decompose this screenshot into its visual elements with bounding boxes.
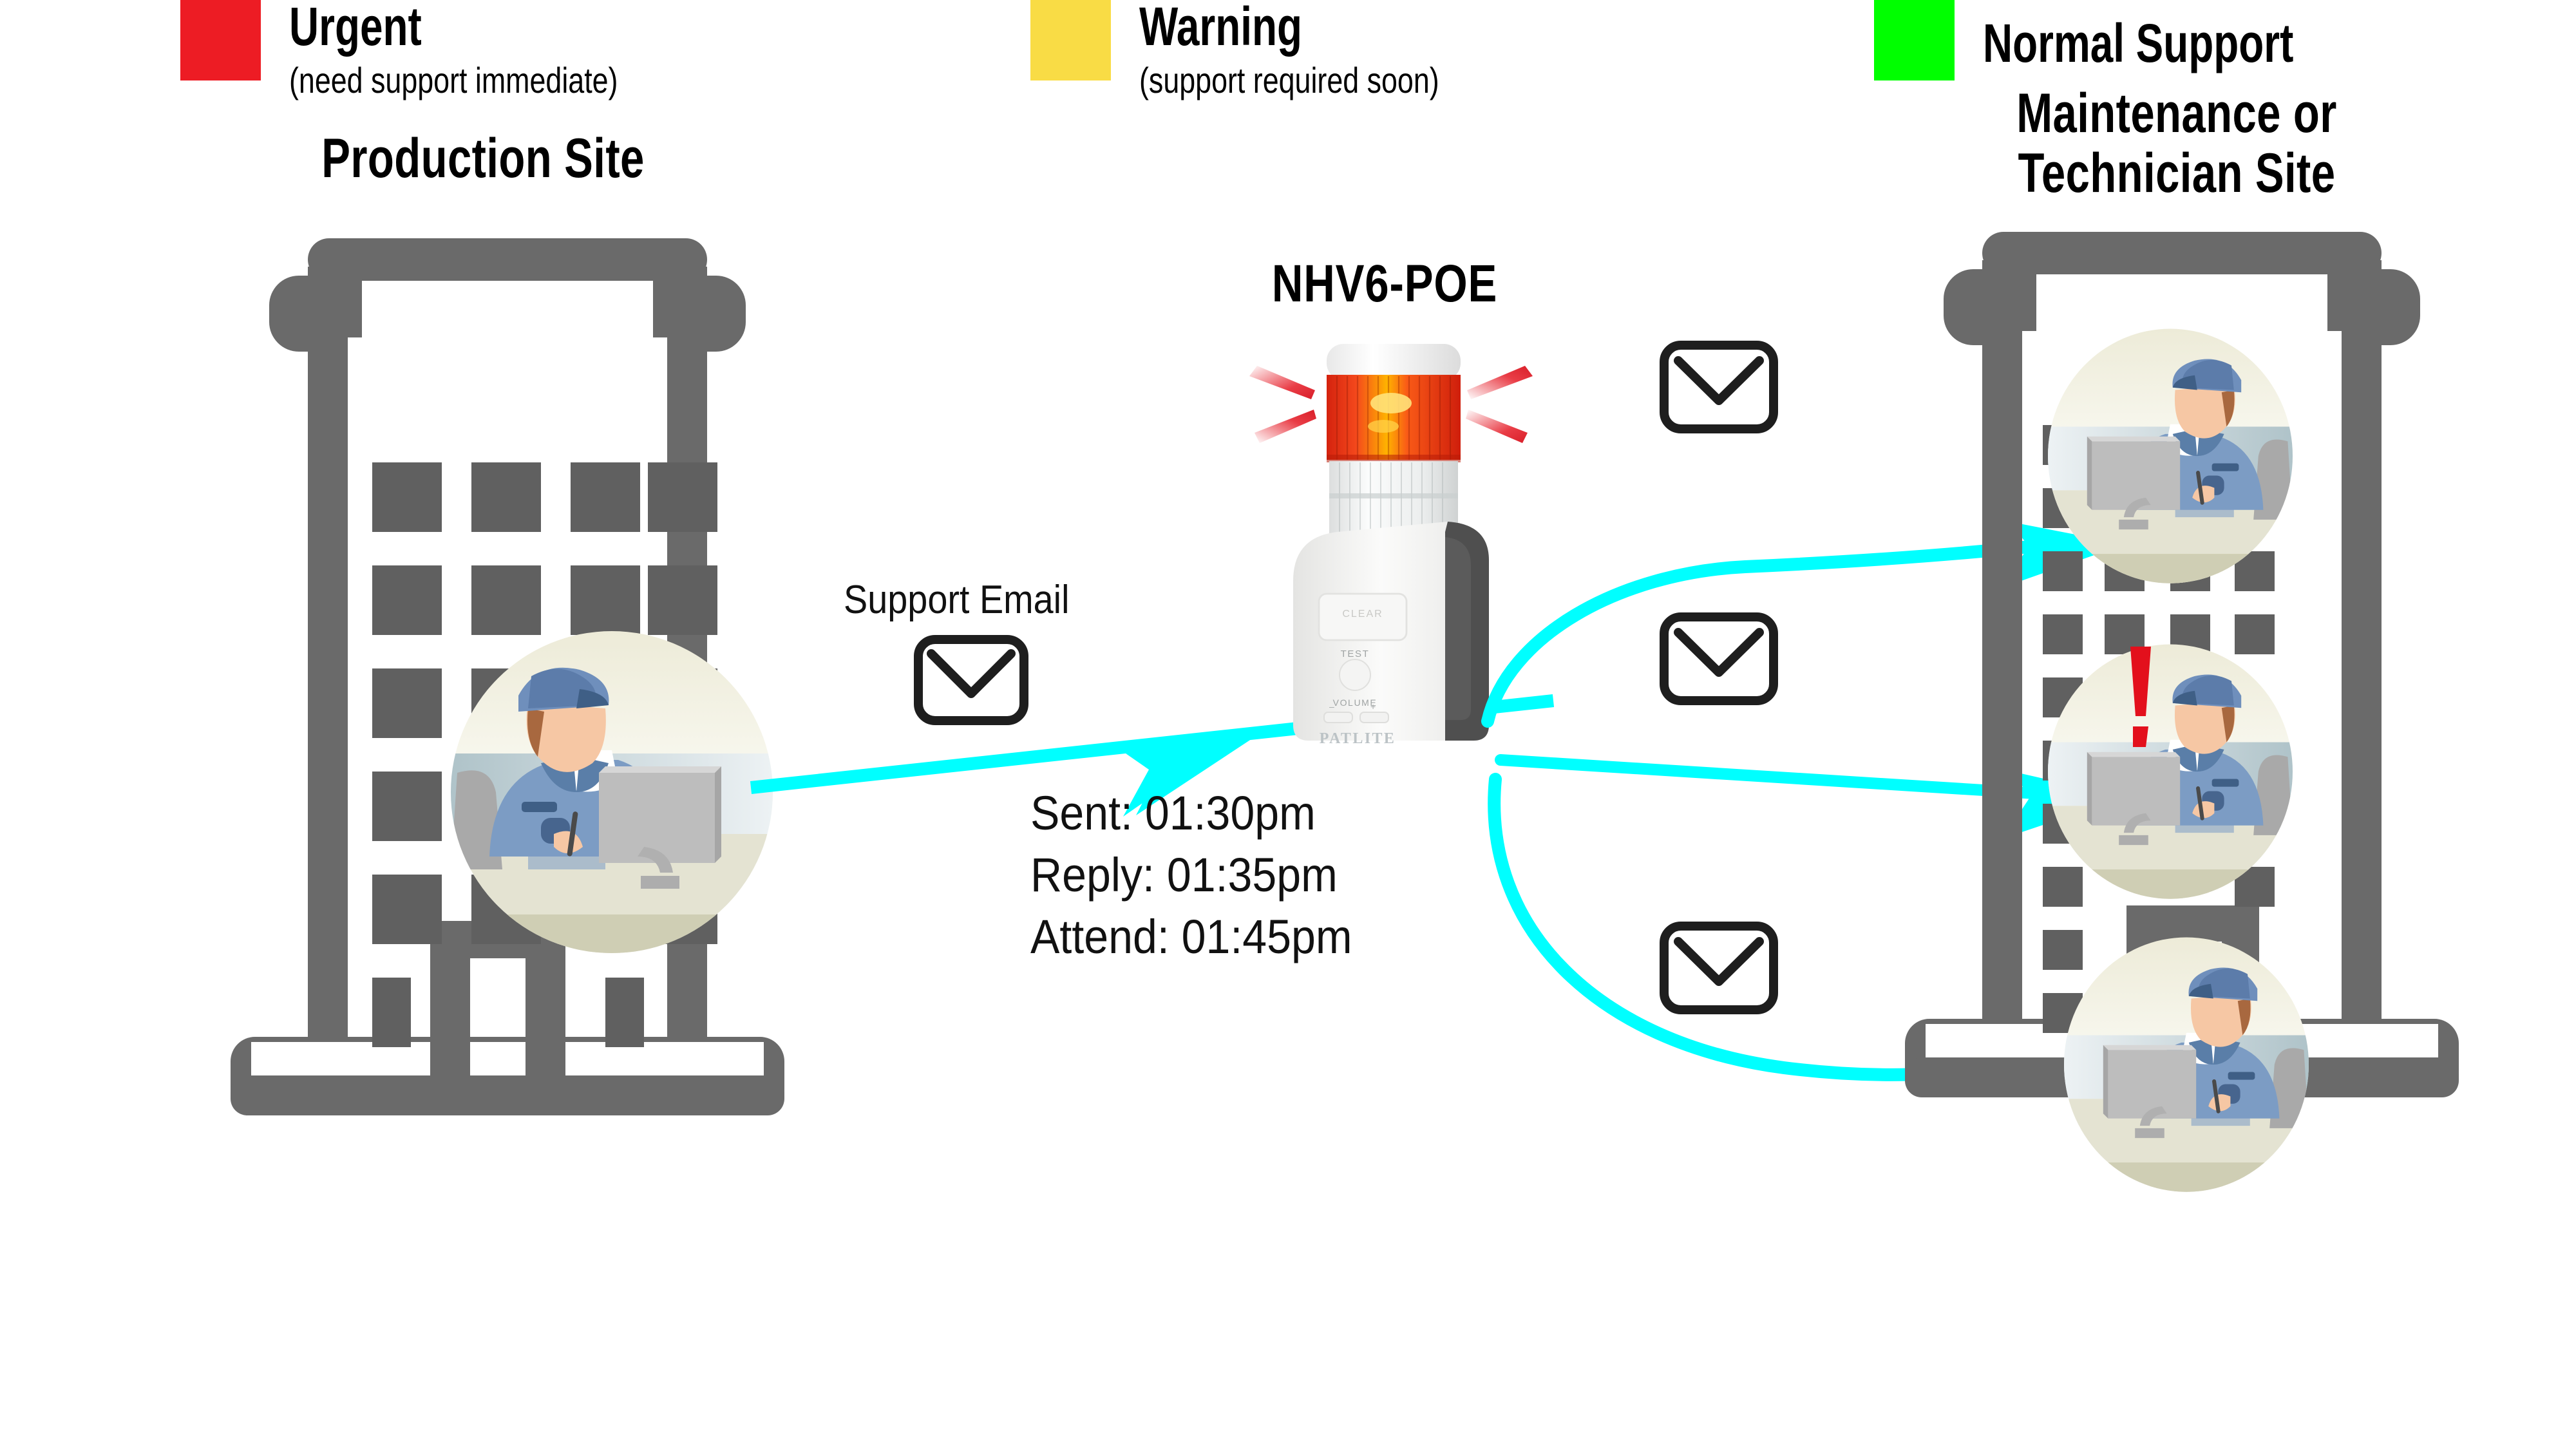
operator-avatar — [451, 631, 773, 953]
technician-avatar-bottom — [2064, 937, 2309, 1195]
legend-swatch-urgent — [180, 0, 261, 80]
timeline-reply: Reply: 01:35pm — [1030, 844, 1352, 906]
legend-label-normal: Normal Support — [1983, 17, 2293, 70]
timeline-attend: Attend: 01:45pm — [1030, 906, 1352, 968]
legend-sub-urgent: (need support immediate) — [289, 62, 618, 100]
svg-text:+: + — [1370, 701, 1376, 712]
legend-item-warning: Warning (support required soon) — [1030, 0, 1514, 100]
timeline-sent: Sent: 01:30pm — [1030, 782, 1352, 844]
device-title: NHV6-POE — [1173, 258, 1596, 310]
legend-swatch-normal — [1874, 0, 1955, 80]
device-test-label: TEST — [1341, 649, 1370, 659]
legend-swatch-warning — [1030, 0, 1111, 80]
device-clear-label: CLEAR — [1342, 609, 1383, 620]
envelope-icon-middle — [1659, 612, 1779, 706]
envelope-icon-top — [1659, 340, 1779, 434]
legend-sub-warning: (support required soon) — [1139, 62, 1439, 100]
alert-exclamation-icon — [2123, 644, 2174, 753]
svg-text:–: – — [1329, 701, 1334, 712]
support-email-label: Support Email — [844, 580, 1069, 620]
avatar-illustration — [451, 631, 773, 953]
legend-label-urgent: Urgent — [289, 0, 601, 53]
legend-item-urgent: Urgent (need support immediate) — [180, 0, 700, 100]
email-timeline: Sent: 01:30pm Reply: 01:35pm Attend: 01:… — [1030, 782, 1352, 969]
legend: Urgent (need support immediate) Warning … — [0, 0, 2576, 193]
legend-label-warning: Warning — [1139, 0, 1424, 53]
envelope-icon-bottom — [1659, 921, 1779, 1015]
diagram-canvas: Production Site Support Email NHV6-POE — [0, 0, 2576, 1449]
legend-item-normal: Normal Support — [1874, 0, 2392, 80]
technician-avatar-top — [2048, 328, 2293, 586]
